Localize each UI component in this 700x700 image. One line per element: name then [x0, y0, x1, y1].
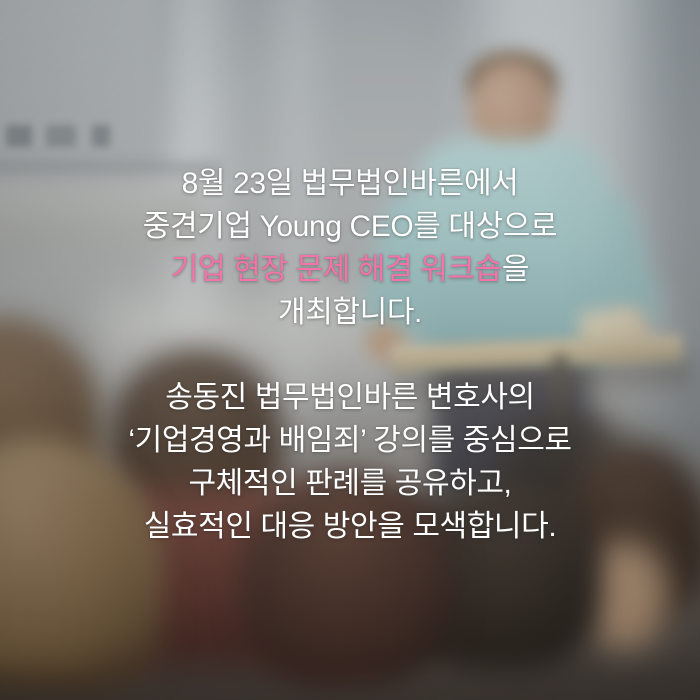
detail-line-4: 실효적인 대응 방안을 모색합니다. — [0, 505, 700, 548]
paragraph-lecture-details: 송동진 법무법인바른 변호사의 ‘기업경영과 배임죄’ 강의를 중심으로 구체적… — [0, 376, 700, 548]
card-content: 8월 23일 법무법인바른에서 중견기업 Young CEO를 대상으로 기업 … — [0, 0, 700, 700]
announce-line-2: 중견기업 Young CEO를 대상으로 — [0, 205, 700, 248]
detail-line-3: 구체적인 판례를 공유하고, — [0, 462, 700, 505]
workshop-title-particle: 을 — [502, 253, 529, 286]
announce-line-4: 개최합니다. — [0, 291, 700, 334]
detail-line-2: ‘기업경영과 배임죄’ 강의를 중심으로 — [0, 419, 700, 462]
paragraph-event-announcement: 8월 23일 법무법인바른에서 중견기업 Young CEO를 대상으로 기업 … — [0, 162, 700, 334]
detail-line-1: 송동진 법무법인바른 변호사의 — [0, 376, 700, 419]
announce-line-1: 8월 23일 법무법인바른에서 — [0, 162, 700, 205]
announcement-card: 8월 23일 법무법인바른에서 중견기업 Young CEO를 대상으로 기업 … — [0, 0, 700, 700]
workshop-title-highlight: 기업 현장 문제 해결 워크숍 — [171, 253, 502, 286]
announce-line-3: 기업 현장 문제 해결 워크숍을 — [0, 248, 700, 291]
